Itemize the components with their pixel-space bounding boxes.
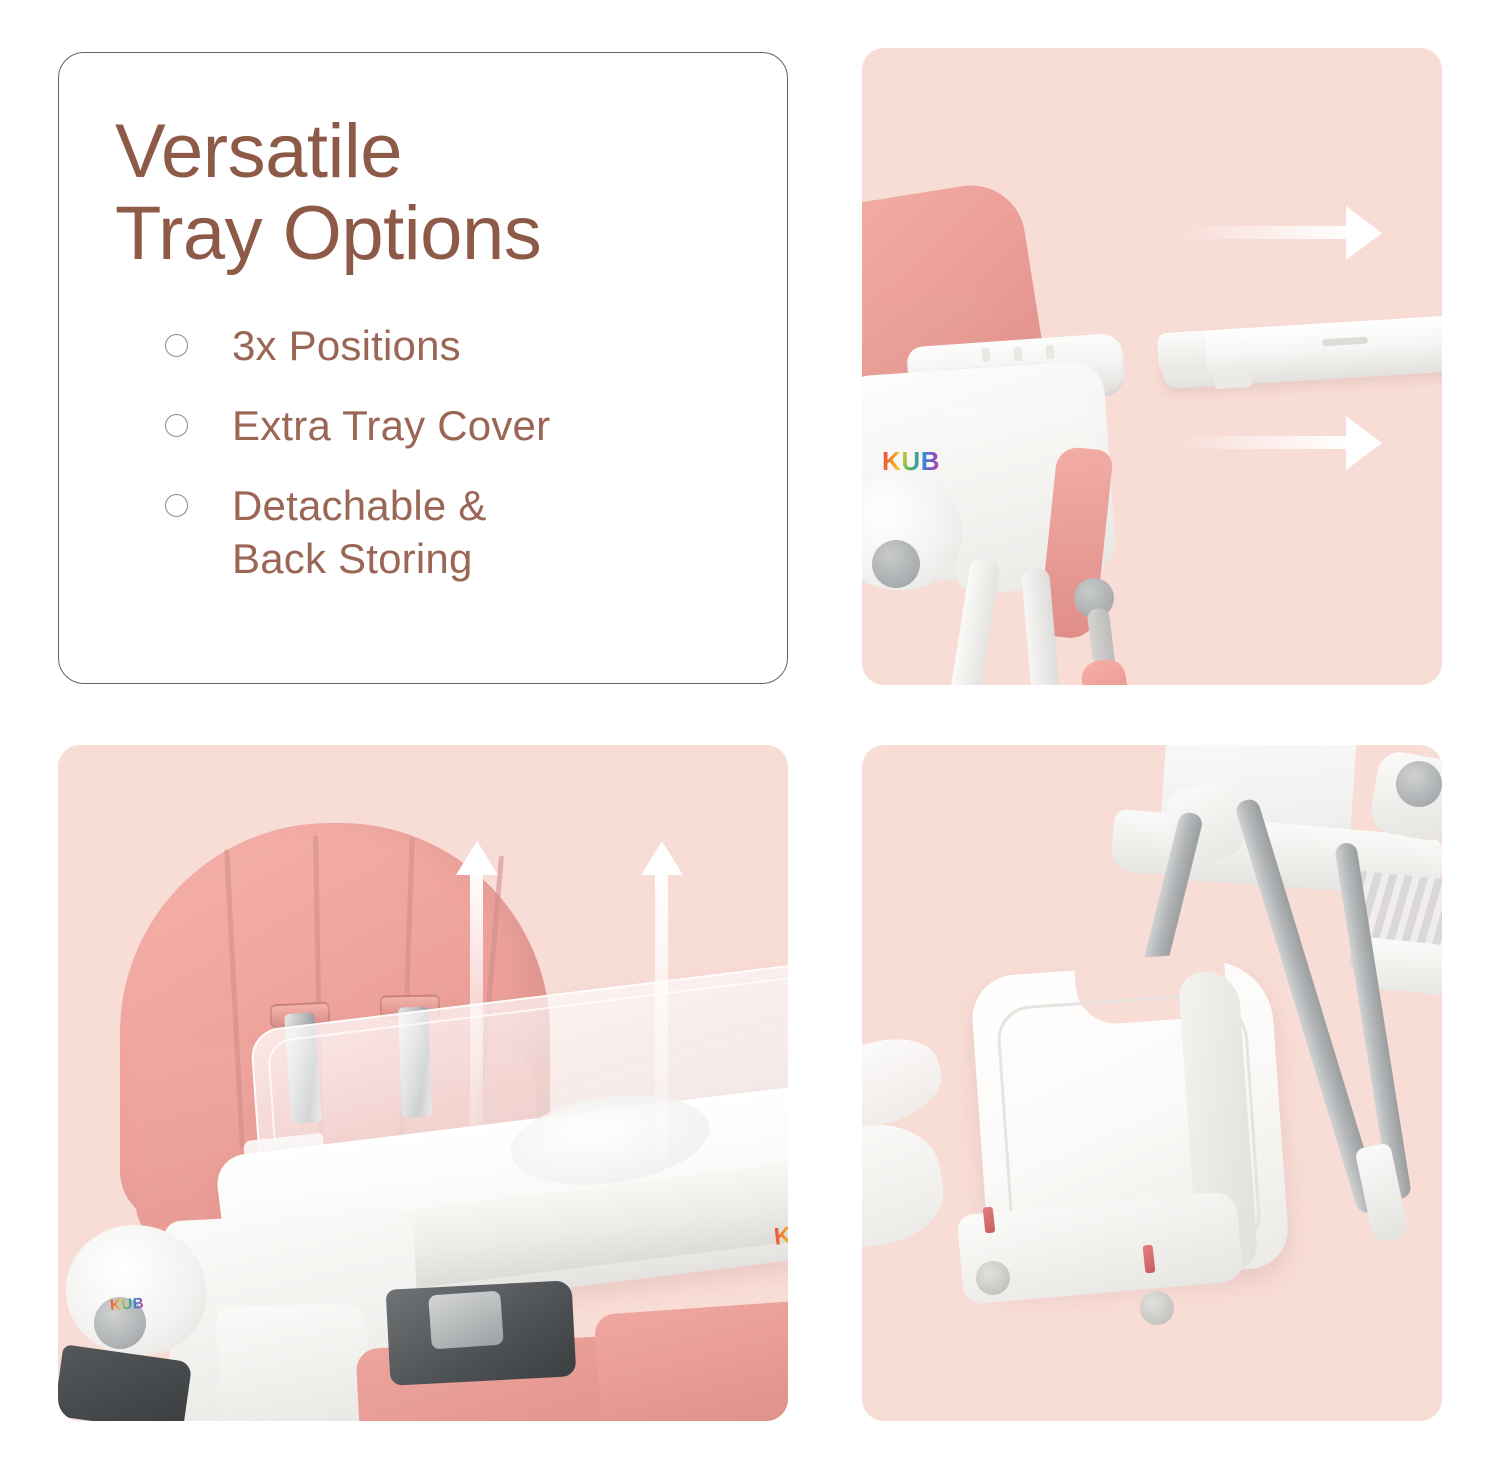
feature-card: Versatile Tray Options 3x Positions Extr… [58, 52, 788, 684]
arrow-tail [470, 873, 483, 1171]
tray-notch [1014, 347, 1023, 362]
feature-label: Detachable & Back Storing [232, 479, 487, 587]
feature-label: 3x Positions [232, 319, 461, 373]
bullet-circle-icon [165, 494, 188, 517]
arrow-head-icon [456, 841, 498, 875]
arrow-tail [1182, 226, 1348, 239]
fold-release-knob [1396, 761, 1442, 807]
product-photo-tray-detach: KUB [862, 48, 1442, 685]
tray-cover-scene: KUB KUB [58, 745, 788, 1421]
list-item: Detachable & Back Storing [115, 479, 741, 587]
tray-notch [1046, 345, 1055, 360]
slide-arrow-top [1182, 226, 1382, 239]
caster-wheel-left [976, 1261, 1010, 1295]
list-item: Extra Tray Cover [115, 399, 741, 453]
caster-wheel-right [1140, 1291, 1174, 1325]
bullet-circle-icon [165, 414, 188, 437]
seat-cushion-side [594, 1299, 788, 1421]
bullet-circle-icon [165, 334, 188, 357]
feature-list: 3x Positions Extra Tray Cover Detachable… [115, 319, 741, 586]
footrest-pad [1079, 657, 1132, 685]
detached-tray-latch-tab [1213, 369, 1252, 389]
product-photo-tray-cover: KUB KUB [58, 745, 788, 1421]
kub-logo: KUB [773, 1220, 788, 1249]
infographic-page: Versatile Tray Options 3x Positions Extr… [0, 0, 1500, 1477]
tray-detach-scene: KUB [862, 48, 1442, 685]
kub-logo: KUB [882, 448, 940, 474]
list-item: 3x Positions [115, 319, 741, 373]
page-title: Versatile Tray Options [115, 111, 741, 275]
harness-center-clip [428, 1291, 504, 1350]
arrow-head-icon [1346, 206, 1382, 260]
detached-tray-lip [1157, 331, 1207, 374]
arrow-head-icon [1346, 416, 1382, 470]
seat-arm-shell [216, 1302, 370, 1421]
tray-notch [982, 348, 991, 363]
tray-store-scene [862, 745, 1442, 1421]
recline-knob [872, 540, 920, 588]
arrow-head-icon [641, 841, 683, 875]
foreground-tray-body [862, 1114, 951, 1260]
slide-arrow-bottom [1182, 436, 1382, 449]
lift-arrow-left [470, 841, 483, 1171]
kub-logo-small: KUB [110, 1296, 145, 1313]
arrow-tail [655, 873, 668, 1171]
feature-label: Extra Tray Cover [232, 399, 550, 453]
product-photo-tray-store [862, 745, 1442, 1421]
arrow-tail [1182, 436, 1348, 449]
lift-arrow-middle [655, 841, 668, 1171]
